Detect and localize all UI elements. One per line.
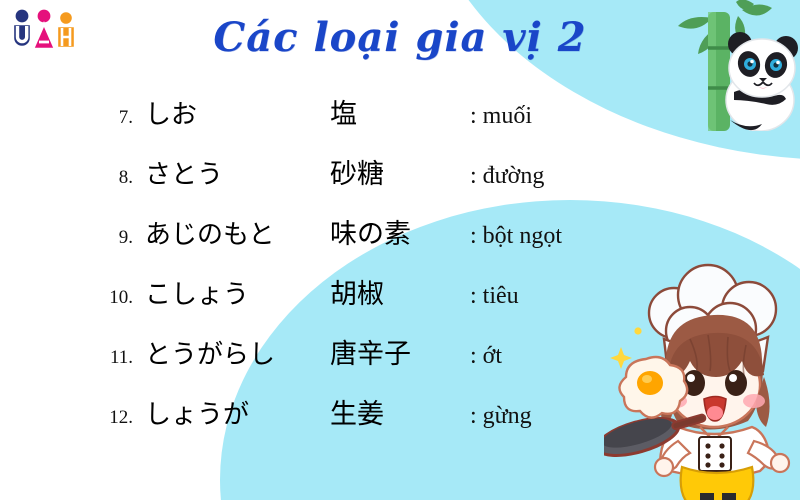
row-kana: しょうが — [145, 394, 330, 431]
row-vietnamese: : muối — [470, 103, 532, 130]
row-number: 7. — [0, 107, 145, 129]
table-row: 10. こしょう 胡椒 : tiêu — [0, 272, 620, 332]
row-kana: こしょう — [145, 274, 330, 311]
row-kana: さとう — [145, 154, 330, 191]
row-kanji: 唐辛子 — [330, 332, 470, 371]
row-vietnamese: : bột ngọt — [470, 223, 562, 250]
row-kanji: 胡椒 — [330, 272, 470, 311]
table-row: 11. とうがらし 唐辛子 : ớt — [0, 332, 620, 392]
row-number: 9. — [0, 227, 145, 249]
vocabulary-list: 7. しお 塩 : muối 8. さとう 砂糖 : đường 9. あじのも… — [0, 92, 620, 452]
table-row: 7. しお 塩 : muối — [0, 92, 620, 152]
row-kana: とうがらし — [145, 334, 330, 371]
table-row: 9. あじのもと 味の素 : bột ngọt — [0, 212, 620, 272]
row-vietnamese: : gừng — [470, 403, 532, 430]
row-number: 10. — [0, 287, 145, 309]
slide-canvas: Các loại gia vị 2 7. しお 塩 : muối 8. さとう … — [0, 0, 800, 500]
row-vietnamese: : ớt — [470, 343, 502, 370]
row-kanji: 砂糖 — [330, 152, 470, 191]
table-row: 8. さとう 砂糖 : đường — [0, 152, 620, 212]
row-kana: あじのもと — [145, 214, 330, 251]
table-row: 12. しょうが 生姜 : gừng — [0, 392, 620, 452]
chef-girl-icon — [604, 261, 800, 500]
row-number: 11. — [0, 347, 145, 369]
row-number: 8. — [0, 167, 145, 189]
page-title: Các loại gia vị 2 — [0, 14, 800, 61]
row-kanji: 塩 — [330, 92, 470, 131]
row-vietnamese: : tiêu — [470, 283, 519, 310]
row-kanji: 味の素 — [330, 212, 470, 251]
row-vietnamese: : đường — [470, 163, 544, 190]
row-kana: しお — [145, 94, 330, 131]
row-number: 12. — [0, 407, 145, 429]
row-kanji: 生姜 — [330, 392, 470, 431]
